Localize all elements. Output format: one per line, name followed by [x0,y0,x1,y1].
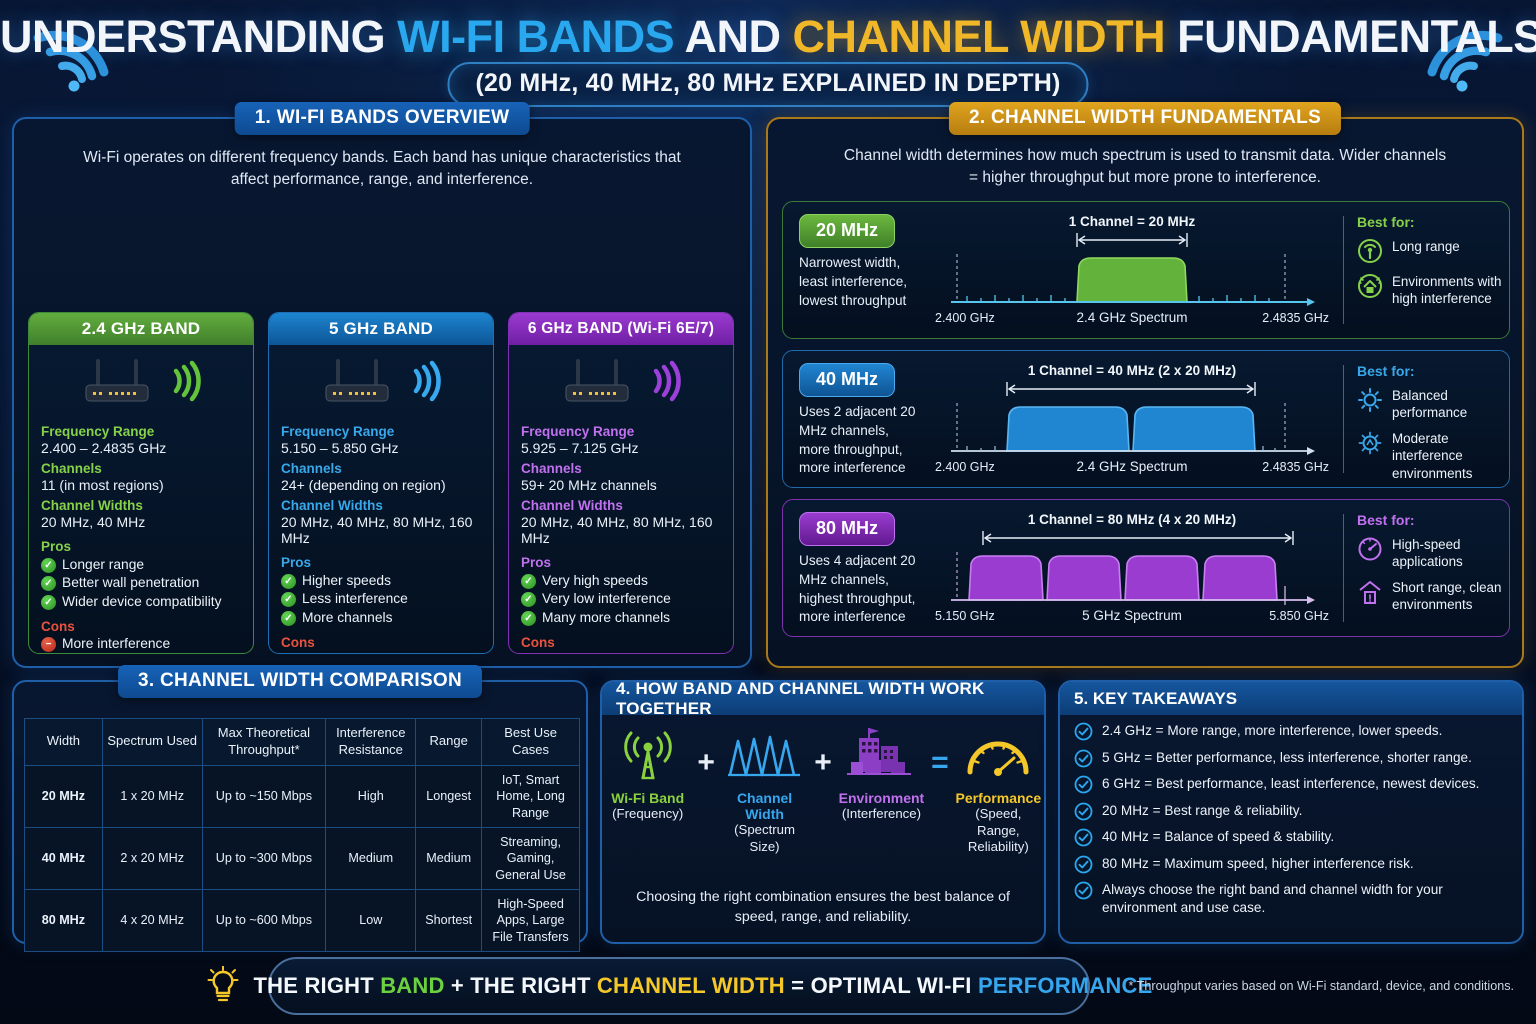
router-icon [558,353,642,409]
wifi-tower-icon [602,724,693,786]
divider [1343,216,1344,324]
check-icon: ✓ [281,574,296,589]
band-card-5ghz[interactable]: 5 GHz BAND Frequency Range [268,312,494,654]
con-text: Shorter range [302,652,386,654]
list-item: 2.4 GHz = More range, more interference,… [1074,722,1512,741]
footer-part-3: + THE RIGHT [445,973,597,998]
section4-footer: Choosing the right combination ensures t… [624,887,1022,928]
takeaway-text: 20 MHz = Best range & reliability. [1102,802,1302,820]
list-item: ✓Higher speeds [281,573,481,589]
list-item: ✓Many more channels [521,610,721,626]
cons-label: Cons [521,635,721,650]
widths-value: 20 MHz, 40 MHz [41,514,241,530]
list-item: 5 GHz = Better performance, less interfe… [1074,749,1512,768]
title-part-2: WI-FI BANDS [397,11,684,62]
speedometer-gauge-icon [953,724,1044,786]
best-for-label: Best for: [1357,214,1503,230]
interference-environment-icon [1357,273,1383,299]
list-item: ✓Better wall penetration [41,575,241,591]
band-card-body: Frequency Range 5.925 – 7.125 GHz Channe… [509,417,733,654]
col-throughput: Max Theoretical Throughput* [202,719,326,766]
takeaway-text: 2.4 GHz = More range, more interference,… [1102,722,1442,740]
band-card-title: 5 GHz BAND [269,313,493,345]
footer-part-7: PERFORMANCE [978,973,1153,998]
cell-interference: Medium [326,827,416,889]
router-illustration [29,345,253,417]
frequency-value: 5.925 – 7.125 GHz [521,440,721,456]
channel-width-description: Uses 2 adjacent 20 MHz channels, more th… [799,403,921,478]
axis-label-right: 2.4835 GHz [1262,460,1329,474]
flow-label: Channel Width [719,790,810,822]
title-part-5: FUNDAMENTALS [1177,11,1536,62]
chart-caption: 1 Channel = 20 MHz [1069,214,1196,229]
channel-width-description: Uses 4 adjacent 20 MHz channels, highest… [799,552,921,627]
takeaway-text: Always choose the right band and channel… [1102,881,1512,916]
best-for-text: High-speed applications [1392,536,1503,570]
check-icon: ✓ [281,611,296,626]
band-card-title: 2.4 GHz BAND [29,313,253,345]
pro-text: Very low interference [542,591,671,606]
list-item: 6 GHz = Best performance, least interfer… [1074,775,1512,794]
page-title: UNDERSTANDING WI-FI BANDS AND CHANNEL WI… [0,14,1536,59]
channel-width-card-20mhz[interactable]: 20 MHz Narrowest width, least interferen… [782,201,1510,339]
router-illustration [509,345,733,417]
best-for-item: High-speed applications [1357,536,1503,570]
chart-caption: 1 Channel = 80 MHz (4 x 20 MHz) [1028,512,1236,527]
cell-spectrum: 4 x 20 MHz [102,889,202,951]
speedometer-icon [1357,536,1383,562]
footer-text: THE RIGHT BAND + THE RIGHT CHANNEL WIDTH… [254,973,1153,999]
widths-value: 20 MHz, 40 MHz, 80 MHz, 160 MHz [281,514,481,546]
pro-text: Longer range [62,557,144,572]
flow-sublabel: (Frequency) [602,806,693,823]
best-for-item: Long range [1357,238,1503,264]
section-channel-width-fundamentals: 2. CHANNEL WIDTH FUNDAMENTALS Channel wi… [766,117,1524,668]
axis-label-center: 5 GHz Spectrum [1082,608,1182,623]
footer-banner: THE RIGHT BAND + THE RIGHT CHANNEL WIDTH… [268,957,1090,1015]
best-for-text: Short range, clean environments [1392,579,1503,613]
cell-interference: Low [326,889,416,951]
list-item: ✓Very low interference [521,591,721,607]
cell-width: 40 MHz [25,827,103,889]
list-item: ✓Longer range [41,557,241,573]
best-for-text: Moderate interference environments [1392,430,1503,481]
pro-text: Better wall penetration [62,575,199,590]
check-icon: ✓ [521,574,536,589]
channels-label: Channels [281,461,481,476]
channels-value: 24+ (depending on region) [281,477,481,493]
check-icon: ✓ [41,595,56,610]
check-circle-icon [1074,802,1093,821]
footer-part-1: THE RIGHT [254,973,381,998]
spectrum-chart-20mhz: 1 Channel = 20 MHz [929,210,1335,332]
table-row[interactable]: 80 MHz 4 x 20 MHz Up to ~600 Mbps Low Sh… [25,889,580,951]
signal-waves-icon [410,359,444,403]
spectrum-chart-40mhz: 1 Channel = 40 MHz (2 x 20 MHz) [929,359,1335,481]
channel-peaks-icon [719,724,810,786]
table-row[interactable]: 40 MHz 2 x 20 MHz Up to ~300 Mbps Medium… [25,827,580,889]
best-for-item: Moderate interference environments [1357,430,1503,481]
flow-sublabel: (Spectrum Size) [719,822,810,855]
pro-text: Very high speeds [542,573,648,588]
channels-value: 11 (in most regions) [41,477,241,493]
section-key-takeaways: 5. KEY TAKEAWAYS 2.4 GHz = More range, m… [1058,680,1524,944]
cell-throughput: Up to ~150 Mbps [202,765,326,827]
col-width: Width [25,719,103,766]
cell-width: 80 MHz [25,889,103,951]
list-item: 20 MHz = Best range & reliability. [1074,802,1512,821]
list-item: 80 MHz = Maximum speed, higher interfere… [1074,855,1512,874]
section-channel-width-comparison: 3. CHANNEL WIDTH COMPARISON Width Spectr… [12,680,588,944]
check-circle-icon [1074,828,1093,847]
axis-label-left: 2.400 GHz [935,460,995,474]
section4-title: 4. HOW BAND AND CHANNEL WIDTH WORK TOGET… [602,682,1044,715]
operator-plus: + [814,724,832,780]
cell-range: Longest [416,765,482,827]
section2-lead: Channel width determines how much spectr… [768,145,1522,190]
takeaway-text: 6 GHz = Best performance, least interfer… [1102,775,1479,793]
comparison-table: Width Spectrum Used Max Theoretical Thro… [24,718,580,952]
list-item: ✓Wider device compatibility [41,594,241,610]
takeaway-text: 40 MHz = Balance of speed & stability. [1102,828,1334,846]
flow-item-performance: Performance (Speed, Range, Reliability) [953,724,1044,856]
signal-waves-icon [650,359,684,403]
section3-title: 3. CHANNEL WIDTH COMPARISON [118,665,482,698]
cell-uses: IoT, Smart Home, Long Range [482,765,580,827]
pro-text: Higher speeds [302,573,391,588]
con-text: Shortest range [542,652,633,654]
col-range: Range [416,719,482,766]
footnote: * Throughput varies based on Wi-Fi stand… [1129,979,1515,993]
minus-icon: − [281,653,296,654]
flow-label: Performance [953,790,1044,806]
check-circle-icon [1074,855,1093,874]
cell-range: Shortest [416,889,482,951]
check-icon: ✓ [41,558,56,573]
cell-interference: High [326,765,416,827]
check-circle-icon [1074,749,1093,768]
best-for-label: Best for: [1357,363,1503,379]
takeaway-text: 80 MHz = Maximum speed, higher interfere… [1102,855,1414,873]
page-subtitle: (20 MHz, 40 MHz, 80 MHz EXPLAINED IN DEP… [447,62,1088,107]
list-item: −Shortest range [521,652,721,654]
axis-label-center: 2.4 GHz Spectrum [1076,310,1187,325]
operator-equals: = [931,724,949,780]
cell-spectrum: 1 x 20 MHz [102,765,202,827]
takeaways-list: 2.4 GHz = More range, more interference,… [1074,722,1512,924]
header: UNDERSTANDING WI-FI BANDS AND CHANNEL WI… [0,0,1536,108]
table-row[interactable]: 20 MHz 1 x 20 MHz Up to ~150 Mbps High L… [25,765,580,827]
flow-item-environment: Environment (Interference) [836,724,927,823]
check-circle-icon [1074,775,1093,794]
frequency-label: Frequency Range [41,424,241,439]
title-part-1: UNDERSTANDING [0,11,397,62]
col-use-cases: Best Use Cases [482,719,580,766]
cell-range: Medium [416,827,482,889]
channel-width-description: Narrowest width, least interference, low… [799,254,921,310]
table-header-row: Width Spectrum Used Max Theoretical Thro… [25,719,580,766]
frequency-value: 5.150 – 5.850 GHz [281,440,481,456]
pro-text: Wider device compatibility [62,594,222,609]
infographic-page: UNDERSTANDING WI-FI BANDS AND CHANNEL WI… [0,0,1536,1024]
axis-label-left: 5.150 GHz [935,609,995,623]
divider [1343,514,1344,622]
axis-label-center: 2.4 GHz Spectrum [1076,459,1187,474]
best-for-item: Short range, clean environments [1357,579,1503,613]
cell-uses: Streaming, Gaming, General Use [482,827,580,889]
cell-uses: High-Speed Apps, Large File Transfers [482,889,580,951]
axis-label-left: 2.400 GHz [935,311,995,325]
check-circle-icon [1074,881,1093,900]
frequency-label: Frequency Range [281,424,481,439]
cell-width: 20 MHz [25,765,103,827]
section-wifi-bands-overview: 1. WI-FI BANDS OVERVIEW Wi-Fi operates o… [12,117,752,668]
pros-label: Pros [521,555,721,570]
operator-plus: + [697,724,715,780]
col-interference: Interference Resistance [326,719,416,766]
check-circle-icon [1074,722,1093,741]
check-icon: ✓ [521,611,536,626]
cell-throughput: Up to ~600 Mbps [202,889,326,951]
flow-item-wifi-band: Wi-Fi Band (Frequency) [602,724,693,823]
best-for-group: Best for: Long range Environments with h… [1357,214,1503,316]
list-item: ✓Less interference [281,591,481,607]
chart-caption: 1 Channel = 40 MHz (2 x 20 MHz) [1028,363,1236,378]
channel-width-badge: 40 MHz [799,363,895,397]
check-icon: ✓ [281,592,296,607]
flow-label: Wi-Fi Band [602,790,693,806]
widths-label: Channel Widths [281,498,481,513]
list-item: ✓More channels [281,610,481,626]
spectrum-chart-80mhz: 1 Channel = 80 MHz (4 x 20 MHz) 5.150 GH [929,508,1335,630]
list-item: 40 MHz = Balance of speed & stability. [1074,828,1512,847]
channel-width-badge: 80 MHz [799,512,895,546]
pros-label: Pros [281,555,481,570]
section-how-they-work-together: 4. HOW BAND AND CHANNEL WIDTH WORK TOGET… [600,680,1046,944]
channel-width-card-40mhz[interactable]: 40 MHz Uses 2 adjacent 20 MHz channels, … [782,350,1510,488]
pros-label: Pros [41,539,241,554]
band-card-6ghz[interactable]: 6 GHz BAND (Wi-Fi 6E/7) Freque [508,312,734,654]
band-card-body: Frequency Range 5.150 – 5.850 GHz Channe… [269,417,493,654]
check-icon: ✓ [521,592,536,607]
col-spectrum: Spectrum Used [102,719,202,766]
widths-label: Channel Widths [521,498,721,513]
pro-text: More channels [302,610,393,625]
moderate-interference-icon [1357,430,1383,456]
channels-value: 59+ 20 MHz channels [521,477,721,493]
cons-label: Cons [281,635,481,650]
signal-waves-icon [170,359,204,403]
footer-part-6: OPTIMAL WI-FI [811,973,978,998]
takeaway-text: 5 GHz = Better performance, less interfe… [1102,749,1472,767]
router-icon [318,353,402,409]
section5-title: 5. KEY TAKEAWAYS [1060,682,1522,715]
cons-label: Cons [41,619,241,634]
channels-label: Channels [41,461,241,476]
list-item: −More interference [41,636,241,652]
band-card-body: Frequency Range 2.400 – 2.4835 GHz Chann… [29,417,253,654]
router-illustration [269,345,493,417]
lightbulb-icon [206,966,240,1006]
flow-label: Environment [836,790,927,806]
city-buildings-icon [836,724,927,786]
widths-label: Channel Widths [41,498,241,513]
widths-value: 20 MHz, 40 MHz, 80 MHz, 160 MHz [521,514,721,546]
best-for-group: Best for: Balanced performance Moderate … [1357,363,1503,491]
flow-sublabel: (Interference) [836,806,927,823]
channel-width-card-80mhz[interactable]: 80 MHz Uses 4 adjacent 20 MHz channels, … [782,499,1510,637]
axis-label-right: 5.850 GHz [1269,609,1329,623]
cell-throughput: Up to ~300 Mbps [202,827,326,889]
flow-sublabel: (Speed, Range, Reliability) [953,806,1044,856]
section1-lead: Wi-Fi operates on different frequency ba… [14,147,750,192]
axis-label-right: 2.4835 GHz [1262,311,1329,325]
list-item: −Shorter range [281,652,481,654]
router-icon [78,353,162,409]
footer-part-2: BAND [380,973,444,998]
frequency-label: Frequency Range [521,424,721,439]
pro-text: Less interference [302,591,408,606]
best-for-label: Best for: [1357,512,1503,528]
channels-label: Channels [521,461,721,476]
list-item: Always choose the right band and channel… [1074,881,1512,916]
title-part-3: AND [684,11,792,62]
section1-title: 1. WI-FI BANDS OVERVIEW [235,102,530,135]
frequency-value: 2.400 – 2.4835 GHz [41,440,241,456]
footer-part-4: CHANNEL WIDTH [597,973,785,998]
best-for-text: Long range [1392,238,1460,255]
title-part-4: CHANNEL WIDTH [792,11,1177,62]
antenna-signal-icon [1357,238,1383,264]
minus-icon: − [521,653,536,654]
con-text: More interference [62,636,170,651]
house-clean-icon [1357,579,1383,605]
best-for-item: Balanced performance [1357,387,1503,421]
band-card-title: 6 GHz BAND (Wi-Fi 6E/7) [509,313,733,345]
flow-item-channel-width: Channel Width (Spectrum Size) [719,724,810,855]
check-icon: ✓ [41,576,56,591]
best-for-item: Environments with high interference [1357,273,1503,307]
cell-spectrum: 2 x 20 MHz [102,827,202,889]
section2-title: 2. CHANNEL WIDTH FUNDAMENTALS [949,102,1341,135]
list-item: ✓Very high speeds [521,573,721,589]
best-for-text: Balanced performance [1392,387,1503,421]
divider [1343,365,1344,473]
pro-text: Many more channels [542,610,670,625]
best-for-group: Best for: High-speed applications Short … [1357,512,1503,623]
footer-part-5: = [785,973,811,998]
formula-flow: Wi-Fi Band (Frequency) + Channel Width (… [602,724,1044,856]
best-for-text: Environments with high interference [1392,273,1503,307]
channel-width-badge: 20 MHz [799,214,895,248]
gear-balance-icon [1357,387,1383,413]
minus-icon: − [41,637,56,652]
band-card-2-4ghz[interactable]: 2.4 GHz BAND Frequency Range [28,312,254,654]
